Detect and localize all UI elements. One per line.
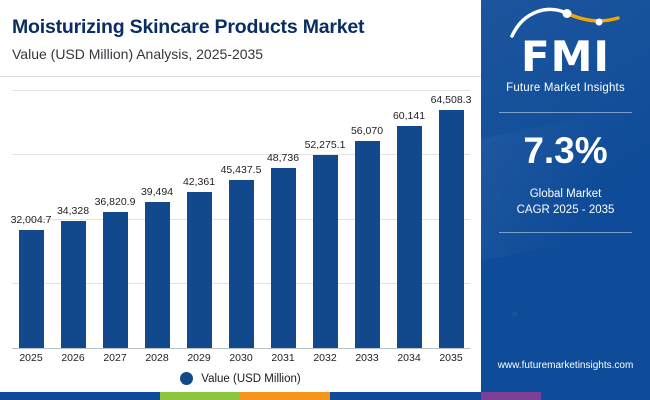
bar-value-label: 64,508.3: [431, 94, 472, 106]
bar-slot: 42,361: [180, 90, 218, 348]
x-tick-label: 2026: [54, 352, 92, 364]
header-divider: [0, 76, 481, 77]
bar[interactable]: [103, 212, 128, 348]
bar-value-label: 39,494: [141, 186, 173, 198]
chart-legend: Value (USD Million): [0, 372, 481, 385]
stripe-segment: [160, 392, 240, 400]
cagr-value: 7.3%: [481, 130, 650, 172]
bar[interactable]: [355, 141, 380, 348]
bar[interactable]: [271, 168, 296, 348]
x-tick-label: 2034: [390, 352, 428, 364]
bar-slot: 34,328: [54, 90, 92, 348]
page-subtitle: Value (USD Million) Analysis, 2025-2035: [12, 46, 263, 62]
bar[interactable]: [439, 110, 464, 348]
bar[interactable]: [187, 192, 212, 348]
fmi-logo-letters: FMI: [481, 36, 650, 78]
legend-marker-icon: [180, 372, 193, 385]
bar-slot: 64,508.3: [432, 90, 470, 348]
bar-slot: 56,070: [348, 90, 386, 348]
fmi-logo: FMI Future Market Insights: [481, 10, 650, 94]
stripe-segment: [240, 392, 330, 400]
infographic-root: Moisturizing Skincare Products Market Va…: [0, 0, 650, 400]
stripe-segment: [0, 392, 160, 400]
bar-value-label: 42,361: [183, 176, 215, 188]
bar-slot: 32,004.7: [12, 90, 50, 348]
bar-slot: 39,494: [138, 90, 176, 348]
x-tick-label: 2035: [432, 352, 470, 364]
cagr-caption-period: CAGR 2025 - 2035: [481, 204, 650, 216]
plot-area: 32,004.7 34,328 36,820.9 39,494 42,361: [12, 90, 470, 348]
chart-panel: Moisturizing Skincare Products Market Va…: [0, 0, 481, 392]
bar-slot: 52,275.1: [306, 90, 344, 348]
x-axis-labels: 2025 2026 2027 2028 2029 2030 2031 2032 …: [12, 352, 470, 364]
bar-slot: 60,141: [390, 90, 428, 348]
x-tick-label: 2028: [138, 352, 176, 364]
bar-group: 32,004.7 34,328 36,820.9 39,494 42,361: [12, 90, 470, 348]
bar[interactable]: [61, 221, 86, 348]
stripe-segment: [481, 392, 541, 400]
bar-value-label: 45,437.5: [221, 164, 262, 176]
bar-value-label: 52,275.1: [305, 139, 346, 151]
x-tick-label: 2025: [12, 352, 50, 364]
bar-slot: 36,820.9: [96, 90, 134, 348]
bar-value-label: 36,820.9: [95, 196, 136, 208]
bar[interactable]: [313, 155, 338, 348]
stripe-segment: [330, 392, 481, 400]
bar[interactable]: [19, 230, 44, 348]
bar-value-label: 32,004.7: [11, 214, 52, 226]
x-tick-label: 2032: [306, 352, 344, 364]
x-tick-label: 2031: [264, 352, 302, 364]
bar[interactable]: [145, 202, 170, 348]
page-title: Moisturizing Skincare Products Market: [12, 16, 364, 39]
sidebar-panel: FMI Future Market Insights 7.3% Global M…: [481, 0, 650, 392]
bar-slot: 45,437.5: [222, 90, 260, 348]
x-tick-label: 2027: [96, 352, 134, 364]
fmi-logo-subtitle: Future Market Insights: [481, 82, 650, 94]
bar[interactable]: [229, 180, 254, 348]
bar[interactable]: [397, 126, 422, 348]
bar-value-label: 56,070: [351, 125, 383, 137]
website-url[interactable]: www.futuremarketinsights.com: [481, 360, 650, 371]
x-axis-line: [12, 348, 470, 349]
bar-value-label: 60,141: [393, 110, 425, 122]
bar-value-label: 34,328: [57, 205, 89, 217]
stripe-segment: [541, 392, 650, 400]
bottom-color-stripe: [0, 392, 650, 400]
cagr-caption-market: Global Market: [481, 188, 650, 200]
x-tick-label: 2029: [180, 352, 218, 364]
sidebar-divider-top: [499, 112, 632, 113]
x-tick-label: 2033: [348, 352, 386, 364]
legend-label: Value (USD Million): [201, 373, 300, 385]
bar-value-label: 48,736: [267, 152, 299, 164]
sidebar-divider-bottom: [499, 232, 632, 233]
x-tick-label: 2030: [222, 352, 260, 364]
bar-slot: 48,736: [264, 90, 302, 348]
